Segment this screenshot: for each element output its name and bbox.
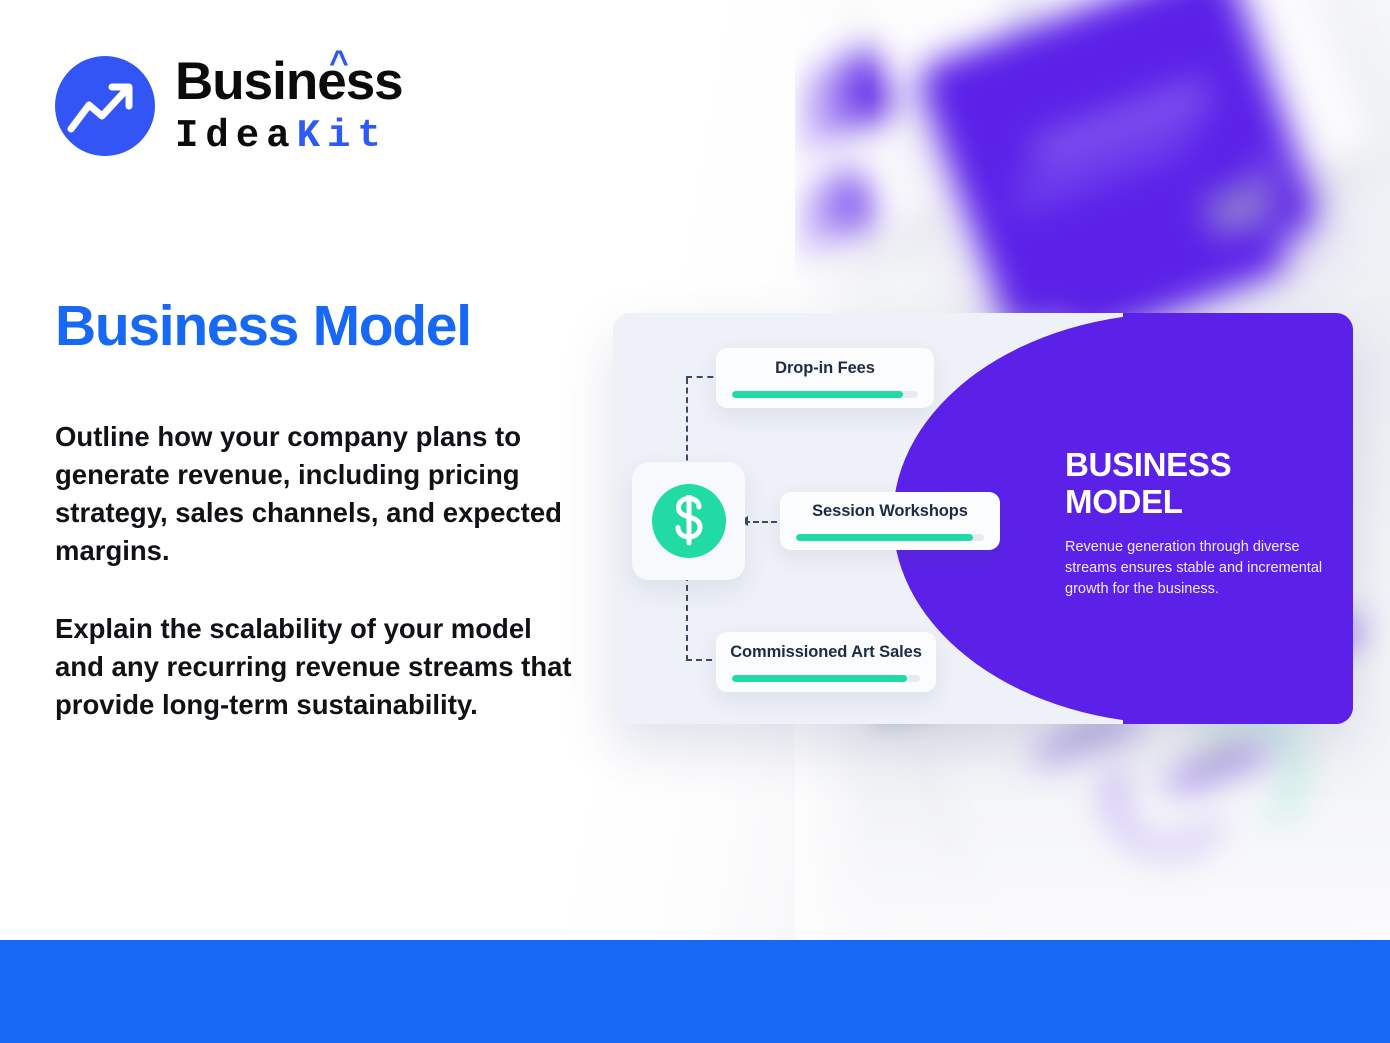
paragraph-2: Explain the scalability of your model an… (55, 610, 585, 724)
node-label: Commissioned Art Sales (730, 643, 922, 662)
node-progress-track (732, 675, 920, 682)
page-title: Business Model (55, 295, 471, 358)
node-progress-track (732, 391, 918, 398)
revenue-node-card[interactable]: Session Workshops (780, 492, 1000, 550)
node-progress-fill (732, 391, 903, 398)
highlight-panel-content: BUSINESS MODEL Revenue generation throug… (1065, 447, 1327, 600)
brand-name-line2: IdeaKit (175, 117, 403, 156)
footer-bar (0, 940, 1390, 1043)
brand-logo: Business ^ IdeaKit (55, 55, 403, 156)
circumflex-accent-icon: ^ (329, 46, 348, 80)
connector-line-vertical-top (686, 378, 688, 470)
node-label: Drop-in Fees (775, 359, 875, 378)
connector-line-vertical-bottom (686, 575, 688, 661)
trending-up-arrow-icon (55, 56, 155, 156)
brand-wordmark: Business ^ IdeaKit (175, 55, 403, 156)
body-copy: Outline how your company plans to genera… (55, 418, 585, 724)
revenue-node-card[interactable]: Commissioned Art Sales (716, 632, 936, 692)
highlight-panel-title: BUSINESS MODEL (1065, 447, 1327, 520)
revenue-hub (632, 462, 745, 580)
photo-bottom-fade (793, 790, 1390, 940)
brand-subname-accent: Kit (297, 114, 388, 158)
node-label: Session Workshops (812, 502, 968, 521)
slide-page: Business ^ IdeaKit Business Model Outlin… (0, 0, 1390, 1043)
revenue-node-card[interactable]: Drop-in Fees (716, 348, 934, 408)
highlight-panel-description: Revenue generation through diverse strea… (1065, 537, 1327, 600)
bg-dot-shape (1253, 158, 1275, 180)
paragraph-1: Outline how your company plans to genera… (55, 418, 585, 570)
brand-name-line1: Business ^ (175, 55, 403, 108)
brand-subname-text: Idea (175, 114, 297, 158)
node-progress-track (796, 534, 984, 541)
node-progress-fill (732, 675, 907, 682)
brand-name-text: Business (175, 52, 403, 111)
node-progress-fill (796, 534, 973, 541)
dollar-sign-icon (652, 484, 726, 558)
